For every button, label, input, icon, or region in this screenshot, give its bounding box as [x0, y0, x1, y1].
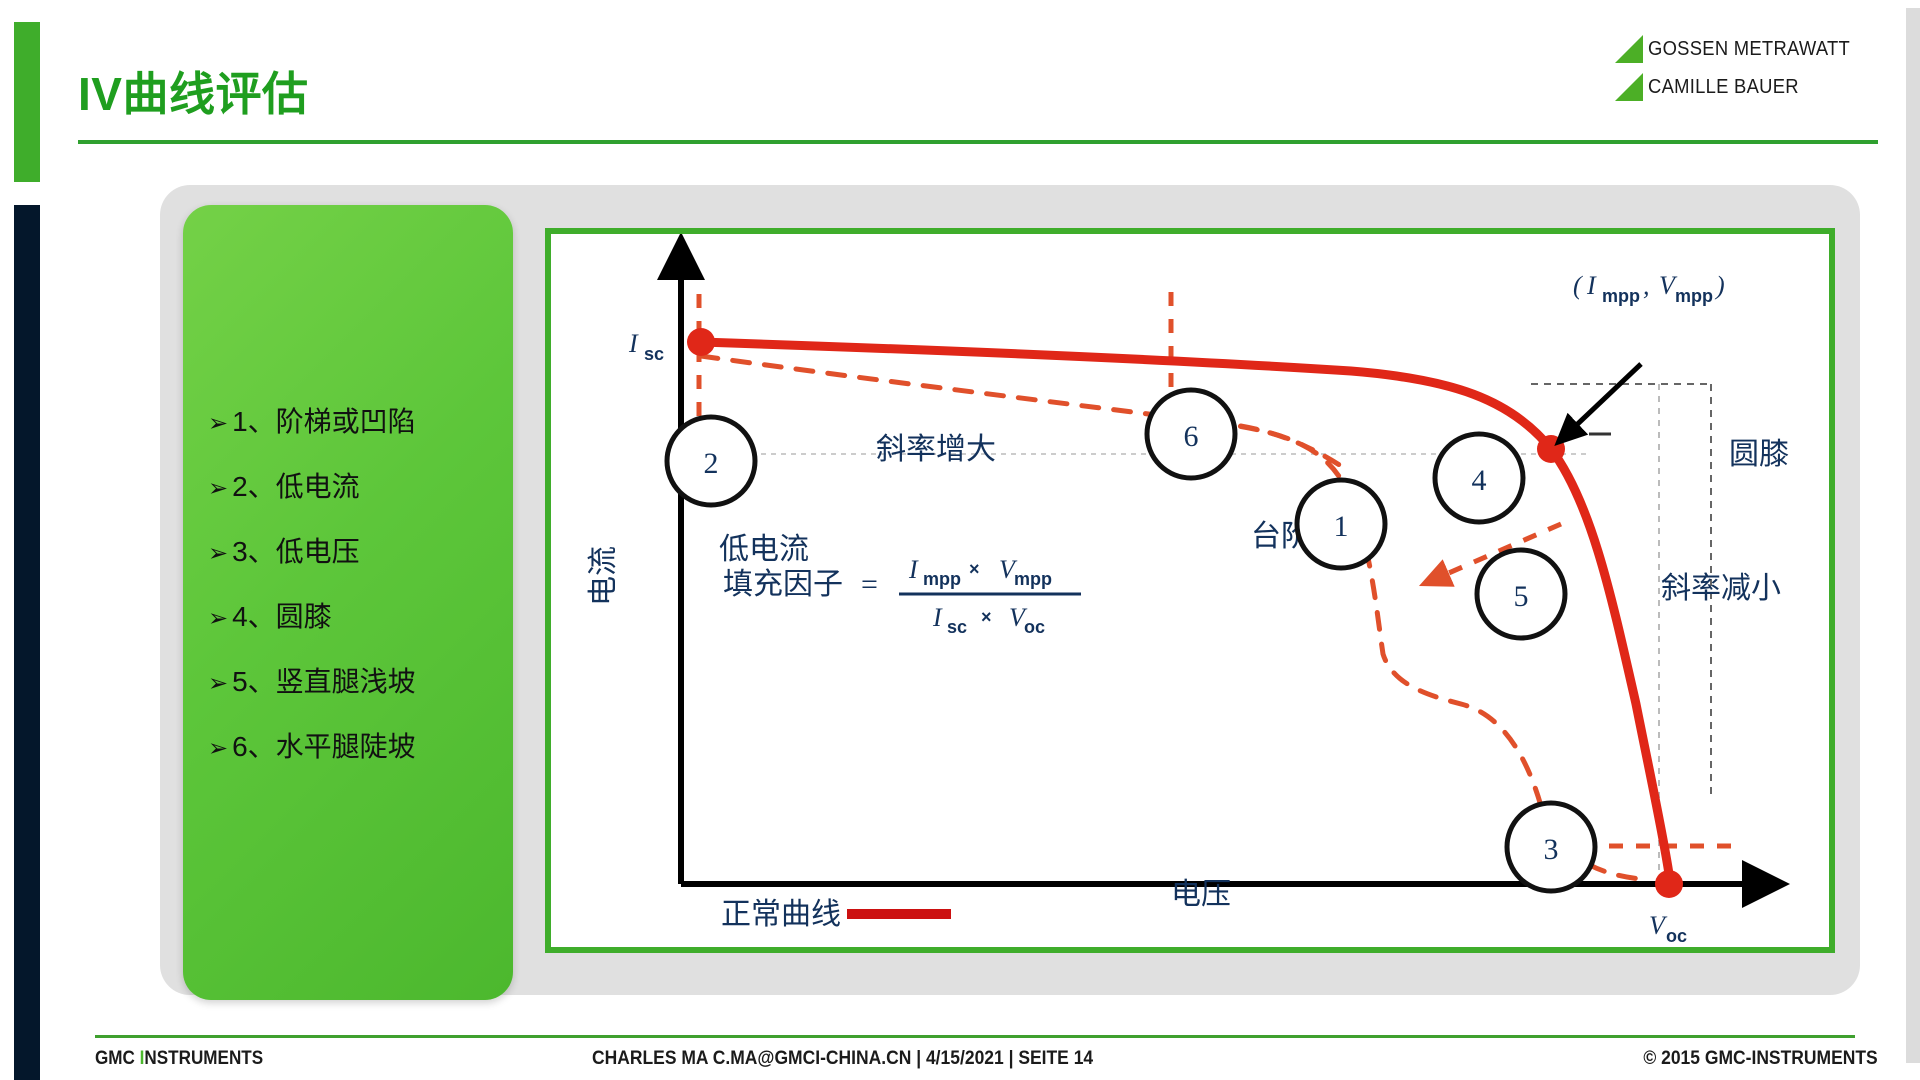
formula-den-i: I [932, 603, 943, 632]
isc-point [687, 328, 715, 356]
formula-lhs: 填充因子 [723, 568, 843, 601]
fault-list: ➢ 1、阶梯或凹陷 ➢ 2、低电流 ➢ 3、低电压 ➢ 4、圆膝 ➢ 5、竖直腿… [208, 400, 508, 790]
marker-label: 6 [1184, 420, 1199, 453]
list-item: ➢ 1、阶梯或凹陷 [208, 400, 508, 440]
bullet-arrow-icon: ➢ [208, 409, 228, 438]
formula-den-times: × [981, 607, 992, 627]
marker-3: 3 [1507, 803, 1595, 891]
isc-subscript: sc [644, 344, 664, 364]
logo-row-gossen: GOSSEN METRAWATT [1615, 30, 1865, 68]
y-axis-label: 电流 [587, 546, 620, 606]
mpp-comma: , [1643, 271, 1650, 300]
formula-num-i: I [908, 555, 919, 584]
footer-meta: CHARLES MA C.MA@GMCI-CHINA.CN | 4/15/202… [592, 1048, 1093, 1070]
triangle-icon [1615, 73, 1643, 101]
legend-label: 正常曲线 [721, 898, 841, 931]
footer-brand-instruments: NSTRUMENTS [144, 1048, 263, 1069]
footer-divider [95, 1035, 1855, 1038]
page-title: IV曲线评估 [78, 58, 308, 124]
isc-symbol: I [628, 329, 639, 358]
logo-text-gossen: GOSSEN METRAWATT [1648, 38, 1850, 61]
triangle-icon [1615, 35, 1643, 63]
chart-legend: 正常曲线 [721, 898, 951, 931]
bullet-arrow-icon: ➢ [208, 669, 228, 698]
list-item: ➢ 6、水平腿陡坡 [208, 725, 508, 765]
marker-label: 4 [1472, 464, 1487, 497]
marker-4: 4 [1435, 434, 1523, 522]
list-item: ➢ 2、低电流 [208, 465, 508, 505]
marker-1: 1 [1297, 480, 1385, 568]
right-edge-strip [1906, 8, 1920, 1063]
marker-2: 2 [667, 417, 755, 505]
fault-list-panel: ➢ 1、阶梯或凹陷 ➢ 2、低电流 ➢ 3、低电压 ➢ 4、圆膝 ➢ 5、竖直腿… [183, 205, 513, 1000]
marker-label: 5 [1514, 580, 1529, 613]
mpp-paren-close: ) [1714, 271, 1725, 300]
footer-brand-gmc: GMC [95, 1048, 140, 1069]
voc-point [1655, 870, 1683, 898]
footer-brand: GMC INSTRUMENTS [95, 1048, 263, 1070]
logo-text-camille: CAMILLE BAUER [1648, 76, 1799, 99]
annotation-low-current: 低电流 [719, 533, 809, 566]
formula-num-times: × [969, 559, 980, 579]
marker-5: 5 [1477, 550, 1565, 638]
logo-row-camille: CAMILLE BAUER [1615, 68, 1865, 106]
marker-label: 3 [1544, 833, 1559, 866]
x-axis-label: 电压 [1171, 878, 1231, 911]
marker-label: 2 [704, 447, 719, 480]
left-accent-bar-green [14, 22, 40, 182]
annotation-slope-decrease: 斜率减小 [1661, 572, 1781, 605]
list-item-label: 1、阶梯或凹陷 [232, 400, 416, 440]
list-item-label: 3、低电压 [232, 530, 360, 570]
fill-factor-formula: 填充因子 = I mpp × V mpp I sc × V oc [723, 555, 1081, 637]
iv-curve-chart: I sc V oc ( I mpp , V mpp ) 斜率增大 台阶 低电流 … [545, 228, 1835, 953]
formula-num-v-sub: mpp [1014, 569, 1052, 589]
list-item: ➢ 4、圆膝 [208, 595, 508, 635]
iv-curve-svg: I sc V oc ( I mpp , V mpp ) 斜率增大 台阶 低电流 … [551, 234, 1829, 947]
list-item-label: 5、竖直腿浅坡 [232, 660, 416, 700]
formula-den-v-sub: oc [1024, 617, 1045, 637]
marker-label: 1 [1334, 510, 1349, 543]
mpp-v-subscript: mpp [1675, 286, 1713, 306]
list-item-label: 4、圆膝 [232, 595, 332, 635]
voc-subscript: oc [1666, 926, 1687, 946]
left-accent-bar-navy [14, 205, 40, 1080]
formula-num-i-sub: mpp [923, 569, 961, 589]
formula-den-i-sub: sc [947, 617, 967, 637]
mpp-i-subscript: mpp [1602, 286, 1640, 306]
footer-copyright: © 2015 GMC-INSTRUMENTS [1644, 1048, 1878, 1070]
bullet-arrow-icon: ➢ [208, 604, 228, 633]
list-item-label: 6、水平腿陡坡 [232, 725, 416, 765]
annotation-slope-increase: 斜率增大 [876, 433, 996, 466]
bullet-arrow-icon: ➢ [208, 474, 228, 503]
list-item: ➢ 3、低电压 [208, 530, 508, 570]
list-item: ➢ 5、竖直腿浅坡 [208, 660, 508, 700]
title-underline [78, 140, 1878, 144]
mpp-callout-arrow [1567, 364, 1641, 434]
mpp-i-symbol: I [1586, 271, 1597, 300]
mpp-point [1537, 435, 1565, 463]
marker-6: 6 [1147, 390, 1235, 478]
bullet-arrow-icon: ➢ [208, 539, 228, 568]
annotation-round-knee: 圆膝 [1729, 438, 1789, 471]
bullet-arrow-icon: ➢ [208, 734, 228, 763]
company-logo: GOSSEN METRAWATT CAMILLE BAUER [1615, 30, 1865, 106]
list-item-label: 2、低电流 [232, 465, 360, 505]
mpp-paren-open: ( [1573, 271, 1583, 300]
formula-equals: = [861, 568, 878, 601]
